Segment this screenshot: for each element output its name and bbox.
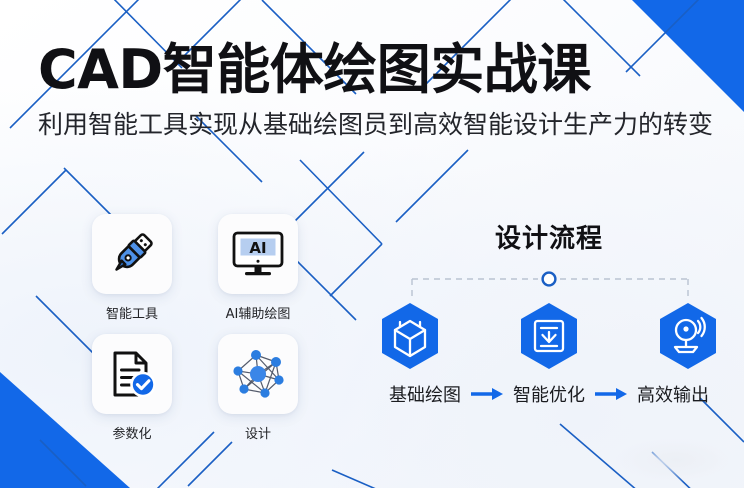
- feature-card: AI: [218, 214, 298, 294]
- feature-card: [92, 334, 172, 414]
- design-flow-section: 设计流程: [370, 218, 728, 407]
- flow-bracket: [370, 269, 728, 303]
- feature-item-ai-drawing[interactable]: AI AI辅助绘图: [214, 214, 302, 326]
- page-subtitle: 利用智能工具实现从基础绘图员到高效智能设计生产力的转变: [38, 111, 718, 139]
- feature-label: 设计: [214, 423, 302, 442]
- feature-item-design[interactable]: 设计: [214, 334, 302, 446]
- flow-step-label: 高效输出: [637, 381, 709, 407]
- page-title: CAD智能体绘图实战课: [38, 42, 718, 97]
- flow-title: 设计流程: [370, 218, 728, 255]
- flow-node-efficient-output[interactable]: [656, 301, 720, 371]
- flow-step-labels: 基础绘图 智能优化 高效输出: [370, 381, 728, 407]
- document-check-icon: [106, 348, 158, 400]
- feature-label: 参数化: [88, 423, 176, 442]
- flow-step-label: 智能优化: [513, 381, 585, 407]
- feature-grid: 智能工具 AI AI辅助绘图: [88, 214, 302, 446]
- feature-item-parametric[interactable]: 参数化: [88, 334, 176, 446]
- feature-label: AI辅助绘图: [214, 303, 302, 322]
- flow-hexagon-row: [370, 301, 728, 371]
- monitor-ai-icon: AI: [231, 229, 285, 279]
- feature-card: [218, 334, 298, 414]
- monitor-screen-text: AI: [249, 239, 266, 257]
- poster-header: CAD智能体绘图实战课 利用智能工具实现从基础绘图员到高效智能设计生产力的转变: [38, 42, 718, 139]
- feature-label: 智能工具: [88, 303, 176, 322]
- arrow-right-icon: [594, 387, 628, 401]
- feature-item-smart-tool[interactable]: 智能工具: [88, 214, 176, 326]
- flow-node-basic-drawing[interactable]: [378, 301, 442, 371]
- poster-canvas: CAD智能体绘图实战课 利用智能工具实现从基础绘图员到高效智能设计生产力的转变: [0, 0, 744, 488]
- arrow-right-icon: [470, 387, 504, 401]
- pen-icon: [106, 228, 158, 280]
- feature-card: [92, 214, 172, 294]
- flow-node-smart-optimize[interactable]: [517, 301, 581, 371]
- bracket-node-circle: [543, 273, 556, 286]
- watermark-smudge: [616, 438, 736, 482]
- network-graph-icon: [231, 348, 285, 400]
- flow-step-label: 基础绘图: [389, 381, 461, 407]
